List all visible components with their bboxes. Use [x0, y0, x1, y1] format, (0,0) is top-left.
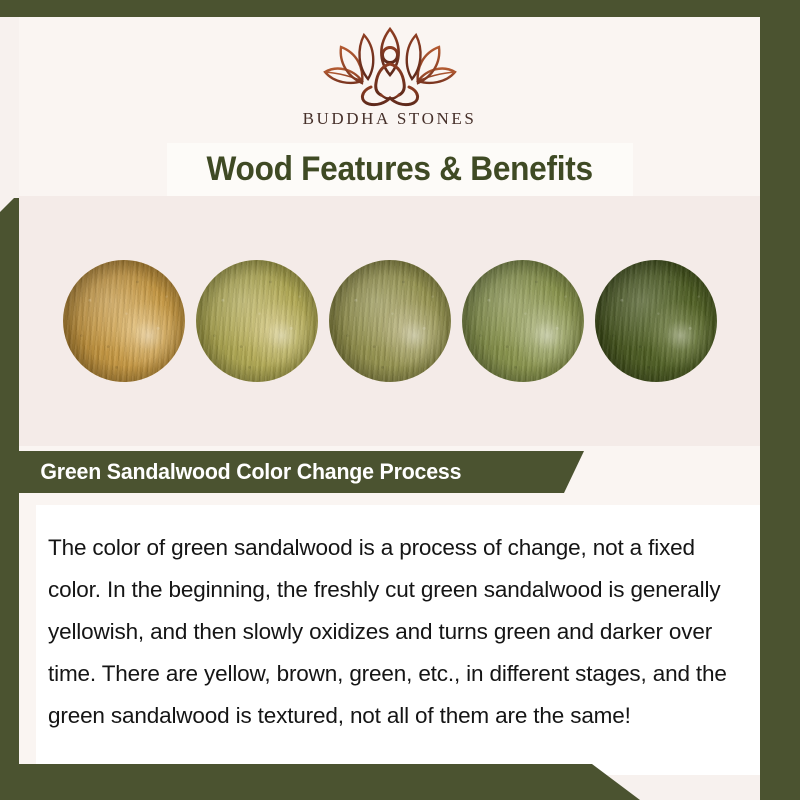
bead-shading [595, 260, 717, 382]
frame-bottom-border [0, 764, 640, 800]
infographic-page: BUDDHA STONES Wood Features & Benefits [0, 0, 800, 800]
page-title-box: Wood Features & Benefits [167, 143, 633, 196]
frame-top-border [0, 0, 800, 17]
frame-right-border [760, 0, 800, 800]
bead-color-strip [19, 196, 760, 446]
bead-shading [63, 260, 185, 382]
section-banner-title: Green Sandalwood Color Change Process [19, 459, 461, 485]
bead-shading [462, 260, 584, 382]
frame-left-border [0, 198, 19, 800]
bead-shading [196, 260, 318, 382]
description-card: The color of green sandalwood is a proce… [36, 505, 780, 775]
brand-name: BUDDHA STONES [303, 109, 477, 129]
bead-item [63, 260, 185, 382]
bead-item [462, 260, 584, 382]
brand-header: BUDDHA STONES [19, 17, 760, 143]
page-title: Wood Features & Benefits [207, 150, 593, 189]
bead-item [329, 260, 451, 382]
bead-item [595, 260, 717, 382]
section-banner: Green Sandalwood Color Change Process [19, 451, 584, 493]
lotus-meditation-figure-icon [315, 25, 465, 107]
bead-shading [329, 260, 451, 382]
description-text: The color of green sandalwood is a proce… [48, 527, 746, 737]
bead-item [196, 260, 318, 382]
